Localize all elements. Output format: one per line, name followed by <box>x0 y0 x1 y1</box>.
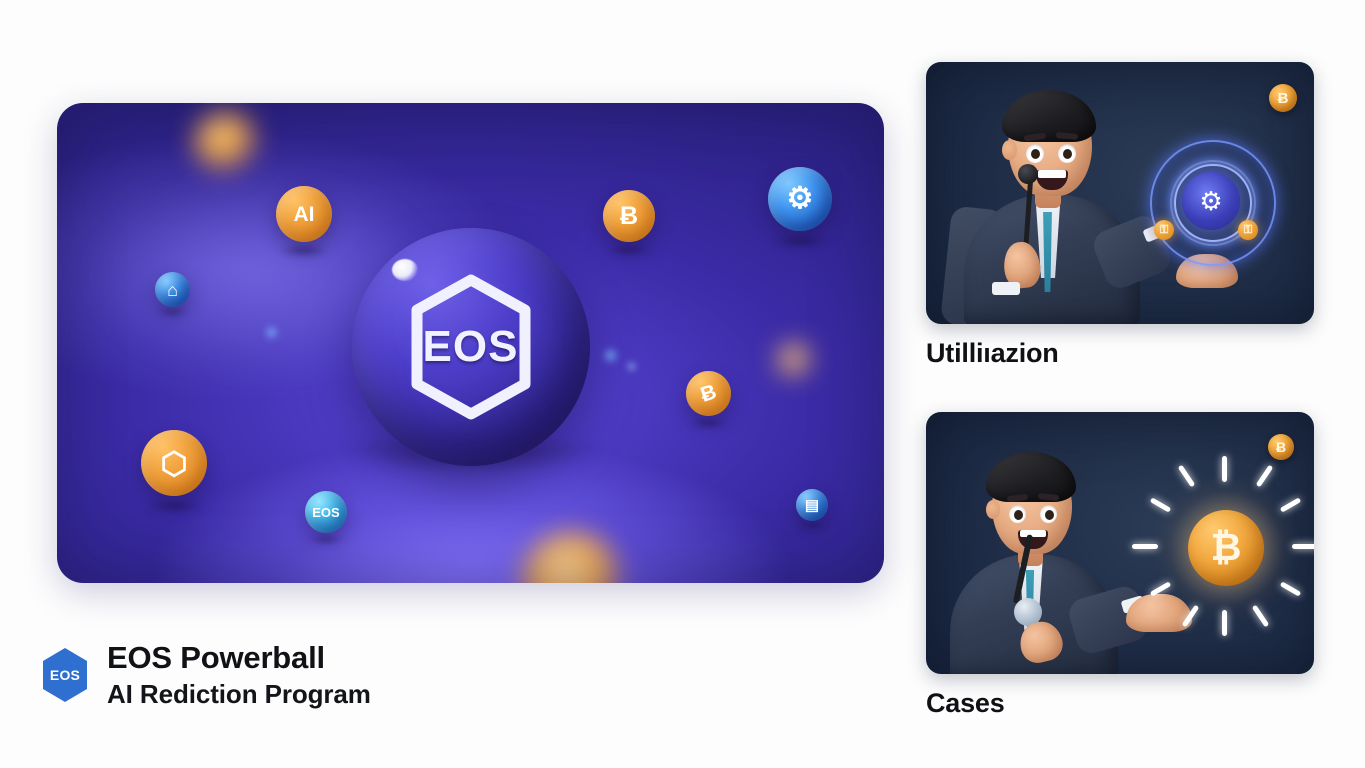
character-teeth <box>1038 170 1066 178</box>
gear-icon: ⚙ <box>787 184 814 214</box>
hexagon-gem-icon: ⬡ <box>160 448 187 479</box>
gear-settings-orb[interactable]: ⚙ <box>768 167 832 231</box>
page-subtitle: AI Rediction Program <box>107 679 371 710</box>
coin-shadow <box>772 234 828 248</box>
eos-token-label: EOS <box>312 506 339 519</box>
character-cuff-left <box>992 282 1020 295</box>
shield-home-icon: ⌂ <box>167 281 178 299</box>
blue-glow-dot-left <box>264 325 279 340</box>
coin-shadow <box>798 522 826 529</box>
page-title: EOS Powerball <box>107 640 371 677</box>
coin-shadow <box>279 244 328 256</box>
bitcoin-badge-icon: Ƀ <box>1268 434 1294 460</box>
blue-glow-dot-small <box>626 361 637 372</box>
radiant-bitcoin-coin: ₿ <box>1188 510 1264 586</box>
presenter-character <box>936 442 1156 674</box>
cases-card-wrapper: Ƀ ₿ <box>926 412 1314 719</box>
title-text-group: EOS Powerball AI Rediction Program <box>107 640 371 710</box>
character-ear <box>986 500 1000 519</box>
hexagon-gem-coin[interactable]: ⬡ <box>141 430 207 496</box>
ai-coin-label: AI <box>294 204 315 225</box>
light-ray <box>1292 544 1314 549</box>
bitcoin-badge-glyph: Ƀ <box>1276 439 1286 455</box>
coin-shadow <box>157 308 188 316</box>
light-ray <box>1222 456 1227 482</box>
light-ray <box>1280 497 1302 512</box>
bitcoin-coin-glyph: Ƀ <box>620 204 638 229</box>
orbit-mini-coin-left: ⚿ <box>1154 220 1174 240</box>
character-hair <box>986 452 1076 502</box>
cases-card-image[interactable]: Ƀ ₿ <box>926 412 1314 674</box>
eos-logo-label: EOS <box>50 667 80 683</box>
bitcoin-badge-glyph: Ƀ <box>1278 90 1289 107</box>
eos-logo-icon: EOS <box>40 647 90 703</box>
utilization-card-wrapper: Ƀ <box>926 62 1314 369</box>
utilization-card-caption: Utilliıazion <box>926 338 1314 369</box>
light-ray <box>1222 610 1227 636</box>
bitcoin-tilted-glyph: Ƀ <box>698 381 719 406</box>
coin-shadow <box>689 418 729 428</box>
orange-blur-orb-bottom <box>523 533 621 583</box>
eos-token-orb[interactable]: EOS <box>305 491 347 533</box>
banknote-orb[interactable]: ▤ <box>796 489 828 521</box>
light-ray <box>1256 465 1274 488</box>
coin-shadow <box>606 244 652 255</box>
orbit-mini-coin-right: ⚿ <box>1238 220 1258 240</box>
eos-sphere-label: EOS <box>423 322 519 372</box>
character-ear <box>1002 140 1017 160</box>
bitcoin-coin-tilted[interactable]: Ƀ <box>686 371 731 416</box>
eos-hexagon-logo-icon: EOS <box>404 273 538 421</box>
banknote-icon: ▤ <box>805 498 819 513</box>
light-ray <box>1178 465 1196 488</box>
character-teeth <box>1020 530 1046 537</box>
hero-title-block: EOS EOS Powerball AI Rediction Program <box>40 640 371 710</box>
orange-blur-orb-top <box>195 111 257 173</box>
character-pupil-right <box>1045 510 1054 520</box>
blue-glow-dot-mid <box>602 347 619 364</box>
eos-hero-banner[interactable]: EOS AI Ƀ ⚙ ⌂ ⬡ Ƀ EOS ▤ <box>57 103 884 583</box>
character-hair <box>1002 90 1096 142</box>
bitcoin-coin[interactable]: Ƀ <box>603 190 655 242</box>
utilization-card-image[interactable]: Ƀ <box>926 62 1314 324</box>
character-pupil-right <box>1063 149 1072 159</box>
ai-token-coin[interactable]: AI <box>276 186 332 242</box>
bitcoin-badge-icon: Ƀ <box>1269 84 1297 112</box>
light-ray <box>1280 581 1302 596</box>
eos-center-sphere[interactable]: EOS <box>352 228 590 466</box>
light-ray <box>1252 605 1270 628</box>
presenter-character <box>948 76 1178 324</box>
light-ray <box>1132 544 1158 549</box>
shield-home-orb[interactable]: ⌂ <box>155 272 190 307</box>
character-pupil-left <box>1031 149 1040 159</box>
coin-shadow <box>308 535 345 544</box>
cases-card-caption: Cases <box>926 688 1314 719</box>
character-pupil-left <box>1014 510 1023 520</box>
character-open-palm <box>1126 594 1192 632</box>
microphone-head-icon <box>1018 164 1038 184</box>
coin-shadow <box>145 499 203 514</box>
orange-blur-orb-right <box>779 344 809 378</box>
